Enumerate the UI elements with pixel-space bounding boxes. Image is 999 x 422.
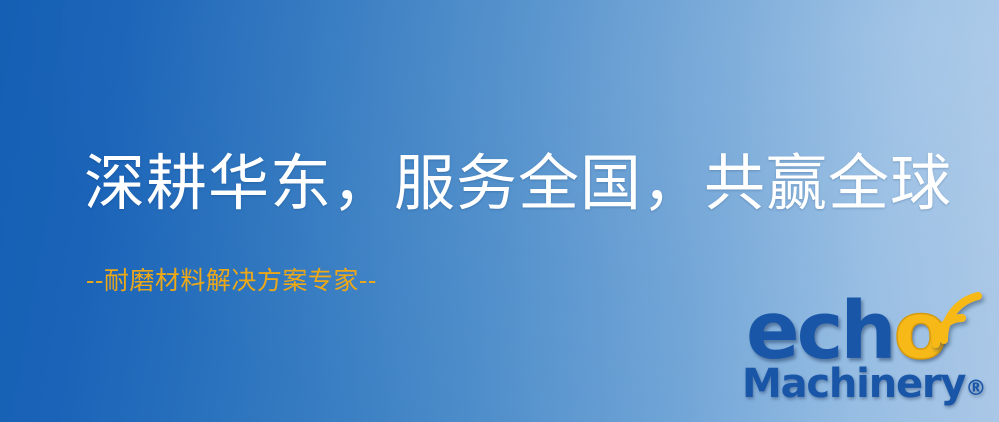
banner-subtitle: --耐磨材料解决方案专家-- (86, 266, 377, 296)
logo-wordmark: echo (746, 292, 945, 371)
echo-machinery-logo[interactable]: echo Machinery® (742, 292, 996, 418)
signal-waves-icon (928, 294, 992, 354)
registered-trademark-icon: ® (965, 376, 986, 400)
logo-tagline-text: Machinery (742, 361, 965, 407)
page-title: 深耕华东，服务全国，共赢全球 (84, 152, 952, 216)
logo-tagline: Machinery® (742, 364, 986, 404)
promotional-banner: 深耕华东，服务全国，共赢全球 --耐磨材料解决方案专家-- echo Machi… (0, 0, 999, 422)
